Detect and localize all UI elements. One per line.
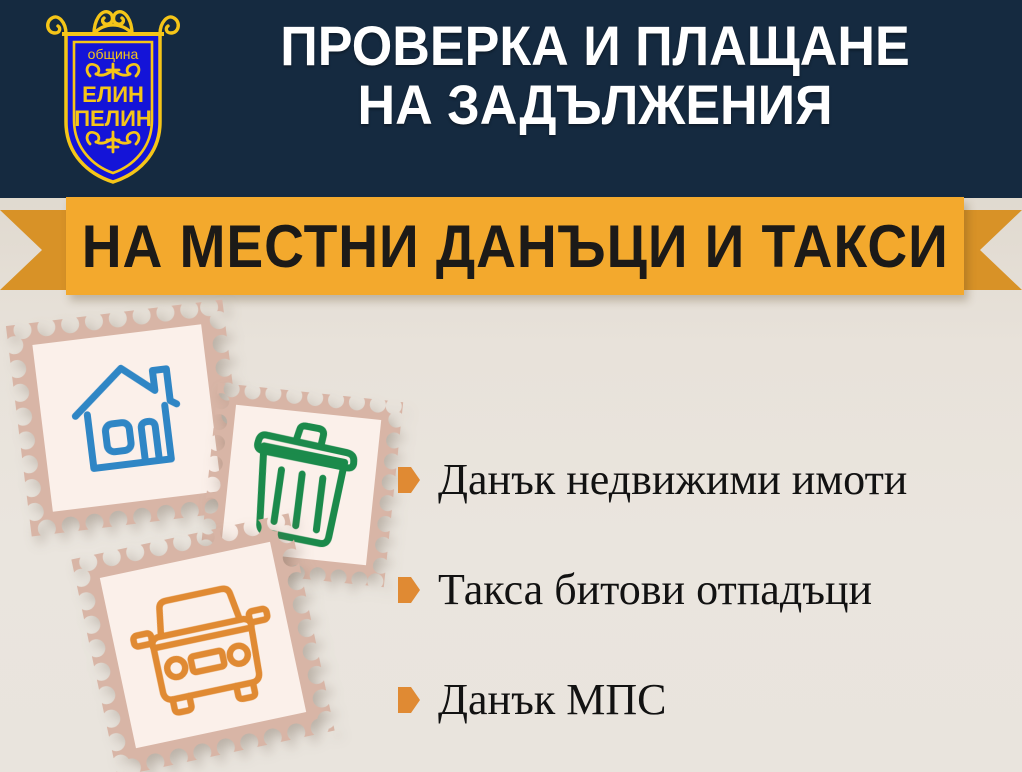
arrow-bullet-icon [398, 687, 420, 713]
page-title-line-1: ПРОВЕРКА И ПЛАЩАНЕ [218, 16, 971, 75]
list-item-label: Данък МПС [438, 678, 666, 722]
list-item[interactable]: Данък недвижими имоти [398, 425, 1018, 535]
list-item[interactable]: Данък МПС [398, 645, 1018, 755]
logo-line-elin: ЕЛИН [82, 82, 144, 107]
services-list: Данък недвижими имоти Такса битови отпад… [398, 425, 1018, 755]
arrow-bullet-icon [398, 467, 420, 493]
ribbon-label: НА МЕСТНИ ДАНЪЦИ И ТАКСИ [81, 212, 948, 281]
ribbon-banner: НА МЕСТНИ ДАНЪЦИ И ТАКСИ [66, 197, 964, 295]
vehicle-stamp-card [71, 513, 334, 772]
arrow-bullet-icon [398, 577, 420, 603]
header-bar: община ЕЛИН ПЕЛИН ПРОВЕРКА И ПЛАЩАНЕ НА … [0, 0, 1022, 198]
logo-line-pelin: ПЕЛИН [74, 106, 152, 131]
subtitle-ribbon: НА МЕСТНИ ДАНЪЦИ И ТАКСИ [0, 197, 1022, 302]
page-title-line-2: НА ЗАДЪЛЖЕНИЯ [218, 75, 971, 134]
poster-canvas: община ЕЛИН ПЕЛИН ПРОВЕРКА И ПЛАЩАНЕ НА … [0, 0, 1022, 772]
logo-line-obshtina: община [88, 46, 139, 62]
list-item-label: Такса битови отпадъци [438, 568, 872, 612]
list-item-label: Данък недвижими имоти [438, 458, 907, 502]
municipality-logo: община ЕЛИН ПЕЛИН [38, 4, 188, 186]
coat-of-arms-icon: община ЕЛИН ПЕЛИН [38, 4, 188, 186]
page-title: ПРОВЕРКА И ПЛАЩАНЕ НА ЗАДЪЛЖЕНИЯ [218, 16, 971, 135]
stamp-frame-car [71, 513, 334, 772]
list-item[interactable]: Такса битови отпадъци [398, 535, 1018, 645]
